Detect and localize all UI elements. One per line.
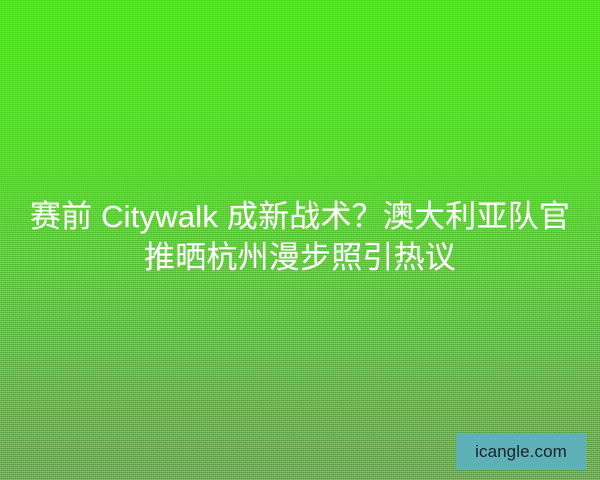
headline-line-1: 赛前 Citywalk 成新战术？澳大利亚队官 — [0, 196, 600, 237]
watermark-badge: icangle.com — [456, 433, 586, 470]
watermark-label: icangle.com — [475, 443, 567, 460]
headline-line-2: 推晒杭州漫步照引热议 — [0, 237, 600, 278]
headline-text: 赛前 Citywalk 成新战术？澳大利亚队官 推晒杭州漫步照引热议 — [0, 196, 600, 278]
poster-card: 赛前 Citywalk 成新战术？澳大利亚队官 推晒杭州漫步照引热议 icang… — [0, 0, 600, 480]
